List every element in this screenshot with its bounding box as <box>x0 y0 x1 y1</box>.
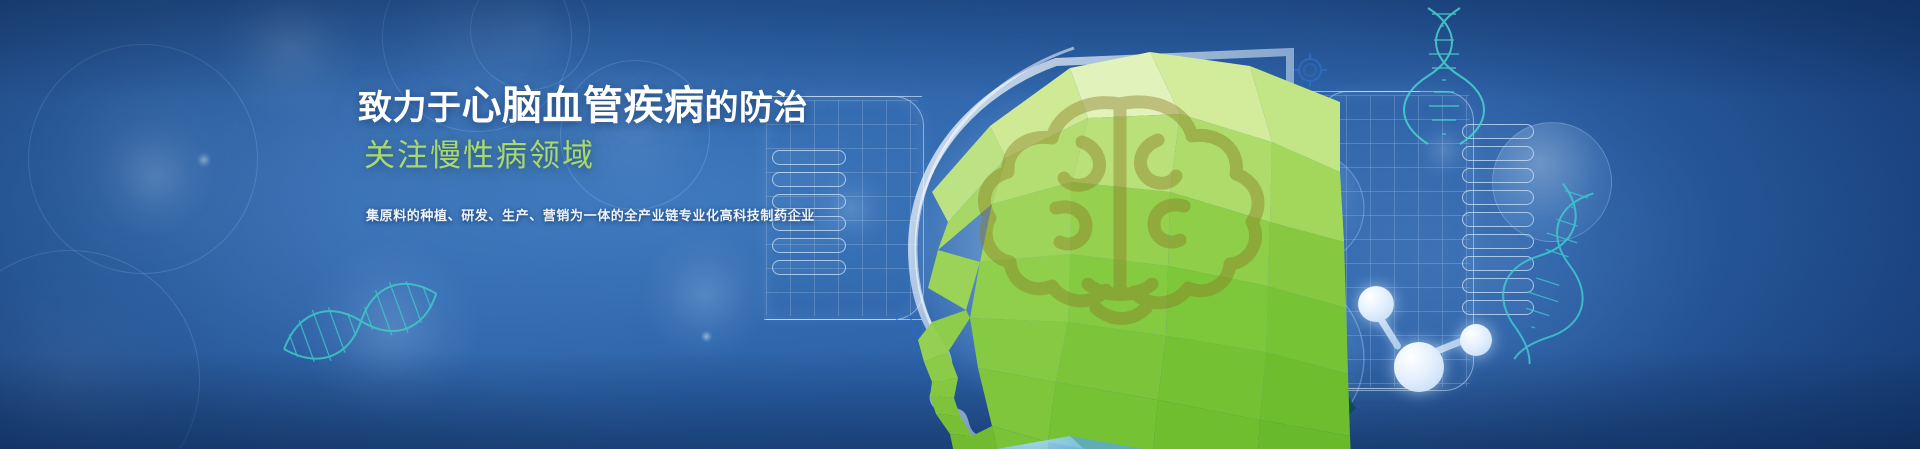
brain-outline <box>820 22 1380 449</box>
dna-helix-bottom-left <box>274 264 444 384</box>
dna-helix-right <box>1500 180 1600 370</box>
headline-part-1: 致力于 <box>358 89 462 127</box>
dna-helix-top-right <box>1398 6 1488 166</box>
molecule-node <box>1394 342 1444 392</box>
banner-tagline: 集原料的种植、研发、生产、营销为一体的全产业链专业化高科技制药企业 <box>366 205 838 224</box>
low-poly-human-head <box>820 22 1380 449</box>
headline-part-3: 的防治 <box>705 89 809 127</box>
molecule-node <box>1460 324 1492 356</box>
hero-banner: 致力于心脑血管疾病的防治 关注慢性病领域 集原料的种植、研发、生产、营销为一体的… <box>0 0 1920 449</box>
banner-copy: 致力于心脑血管疾病的防治 关注慢性病领域 集原料的种植、研发、生产、营销为一体的… <box>358 86 838 224</box>
banner-subtitle: 关注慢性病领域 <box>364 140 838 171</box>
headline-part-2-emphasis: 心脑血管疾病 <box>462 84 705 128</box>
page-title: 致力于心脑血管疾病的防治 <box>358 86 838 126</box>
